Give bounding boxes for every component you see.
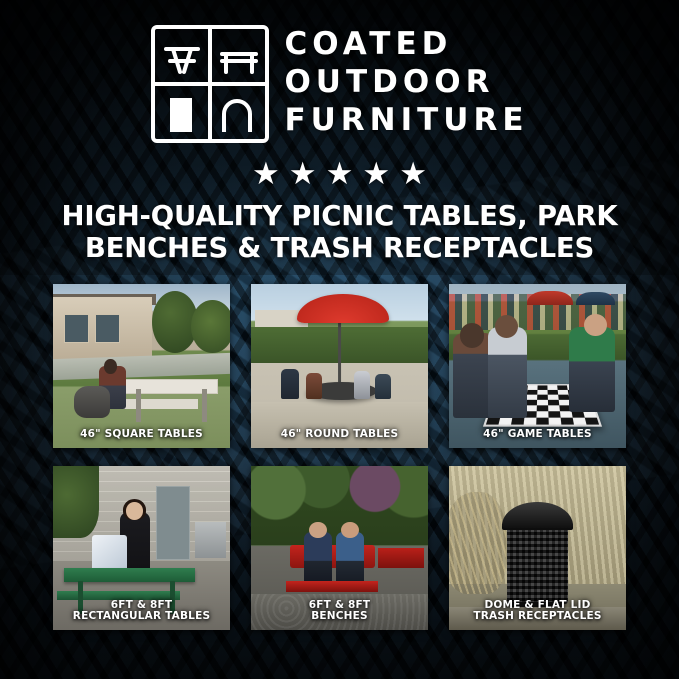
product-caption-line2: TRASH RECEPTACLES [473,610,601,622]
product-card-benches[interactable]: 6FT & 8FT BENCHES [251,466,428,630]
star-icon: ★ [326,158,354,189]
product-caption-line2: BENCHES [311,610,368,622]
star-icon: ★ [399,158,427,189]
product-caption-game-tables: 46" GAME TABLES [449,423,626,448]
product-card-square-tables[interactable]: 46" SQUARE TABLES [53,284,230,448]
brand-name-line3: FURNITURE [284,103,528,139]
product-card-round-tables[interactable]: 46" ROUND TABLES [251,284,428,448]
product-caption-benches: 6FT & 8FT BENCHES [251,594,428,631]
product-poster: COATED OUTDOOR FURNITURE ★ ★ ★ ★ ★ HIGH-… [0,0,679,679]
headline: HIGH-QUALITY PICNIC TABLES, PARK BENCHES… [30,200,649,265]
star-icon: ★ [289,158,317,189]
product-caption-line1: 6FT & 8FT [309,599,371,611]
product-grid: 46" SQUARE TABLES 46" ROUND TABLES [53,284,626,630]
product-card-rectangular-tables[interactable]: 6FT & 8FT RECTANGULAR TABLES [53,466,230,630]
star-icon: ★ [362,158,390,189]
product-card-trash-receptacles[interactable]: DOME & FLAT LID TRASH RECEPTACLES [449,466,626,630]
product-caption-trash-receptacles: DOME & FLAT LID TRASH RECEPTACLES [449,594,626,631]
picnic-table-bench-trashcan-logo-icon [150,24,270,144]
brand-logo: COATED OUTDOOR FURNITURE [0,24,679,144]
product-caption-round-tables: 46" ROUND TABLES [251,423,428,448]
star-icon: ★ [252,158,280,189]
headline-line1: HIGH-QUALITY PICNIC TABLES, PARK [62,200,618,232]
brand-name-line2: OUTDOOR [284,65,528,101]
product-card-game-tables[interactable]: 46" GAME TABLES [449,284,626,448]
product-caption-square-tables: 46" SQUARE TABLES [53,423,230,448]
product-caption-line2: RECTANGULAR TABLES [73,610,210,622]
brand-name-line1: COATED [284,27,528,63]
product-caption-line1: DOME & FLAT LID [484,599,590,611]
star-rating: ★ ★ ★ ★ ★ [0,158,679,189]
product-caption-rectangular-tables: 6FT & 8FT RECTANGULAR TABLES [53,594,230,631]
headline-line2: BENCHES & TRASH RECEPTACLES [30,232,649,264]
product-caption-line1: 6FT & 8FT [111,599,173,611]
brand-wordmark: COATED OUTDOOR FURNITURE [284,27,528,141]
